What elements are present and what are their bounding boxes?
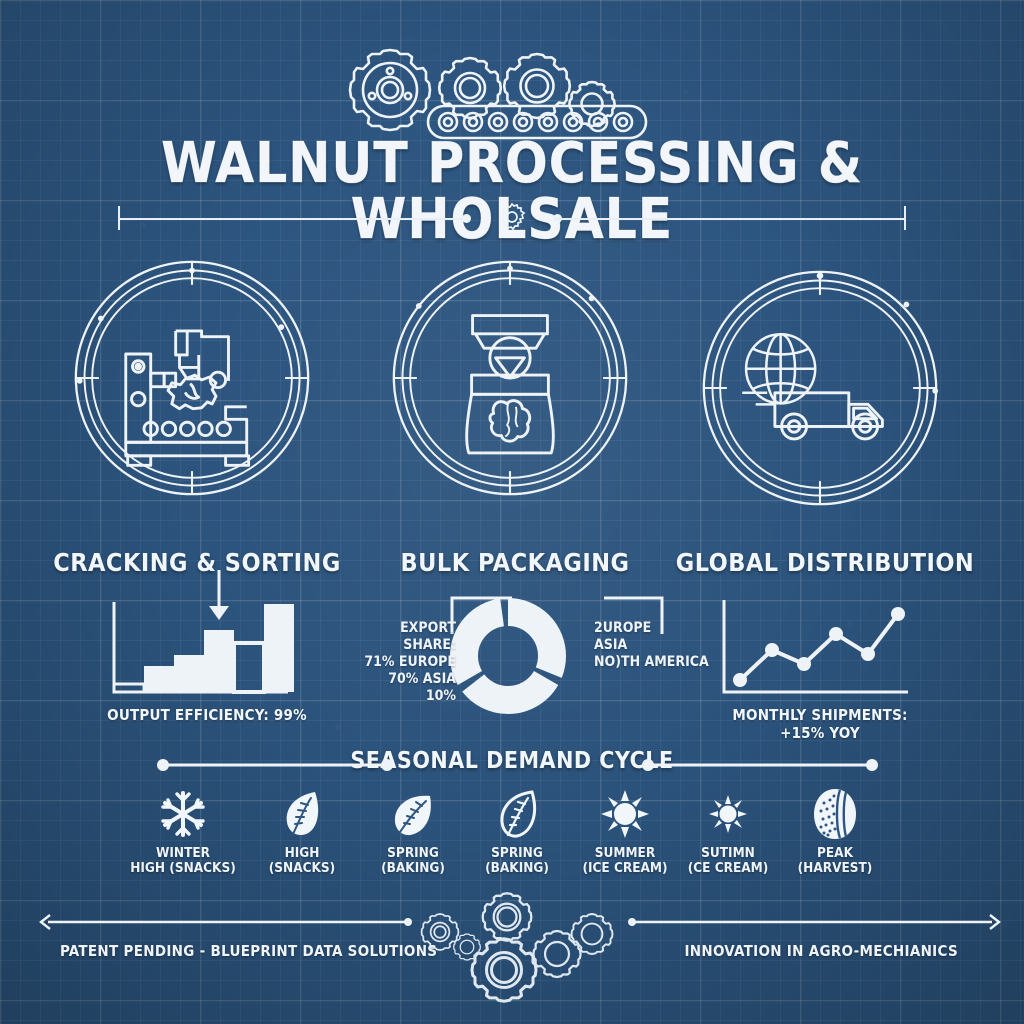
stage-packaging-label: BULK PACKAGING: [355, 548, 675, 577]
footer-right-text: INNOVATION IN AGRO-MECHIANICS: [684, 942, 958, 960]
footer-left-text: PATENT PENDING - BLUEPRINT DATA SOLUTION…: [60, 942, 437, 960]
season-line1: PEAK: [770, 846, 900, 861]
donut-value-2: 70% ASIA: [352, 671, 456, 688]
output-efficiency-label: OUTPUT EFFICIENCY: 99%: [98, 706, 316, 724]
donut-right-legend: 2UROPE ASIA NO)TH AMERICA: [594, 620, 714, 671]
season-caption: WINTER HIGH (SNACKS): [118, 846, 248, 876]
donut-legend-2: ASIA: [594, 637, 714, 654]
monthly-shipments-line-chart: [710, 592, 925, 704]
walnut-icon: [770, 788, 900, 840]
stage-global-distribution[interactable]: [700, 268, 940, 508]
rule-center-gear-icon: [496, 202, 528, 234]
season-line2: HIGH (SNACKS): [118, 861, 248, 876]
stage-bulk-packaging[interactable]: [390, 258, 630, 498]
footer-right-arrow-rule: [622, 912, 1002, 932]
stage-cracking-sorting[interactable]: [72, 258, 312, 498]
donut-value-3: 10%: [352, 688, 456, 705]
donut-legend-3: NO)TH AMERICA: [594, 654, 714, 671]
donut-left-legend: EXPORT SHARE: 71% EUROPE 70% ASIA 10%: [352, 620, 456, 705]
infographic-canvas: WALNUT PROCESSING & WHOLSALE: [0, 0, 1024, 1024]
season-caption: PEAK (HARVEST): [770, 846, 900, 876]
stage-distribution-label: GLOBAL DISTRIBUTION: [665, 548, 985, 577]
season-item-peak-harvest[interactable]: PEAK (HARVEST): [770, 788, 900, 876]
donut-value-1: 71% EUROPE: [352, 654, 456, 671]
season-line1: WINTER: [118, 846, 248, 861]
season-item-winter[interactable]: WINTER HIGH (SNACKS): [118, 788, 248, 876]
donut-title: EXPORT SHARE:: [352, 620, 456, 654]
seasonal-heading-rule-right: [640, 758, 880, 772]
globe-truck-icon: [700, 268, 940, 508]
gear-cluster-icon: [412, 892, 612, 1004]
stage-cracking-label: CRACKING & SORTING: [37, 548, 357, 577]
seasonal-heading-rule-left: [155, 758, 395, 772]
cracking-machine-icon: [72, 258, 312, 498]
donut-legend-1: 2UROPE: [594, 620, 714, 637]
output-efficiency-bar-chart: [98, 588, 313, 703]
season-line2: (HARVEST): [770, 861, 900, 876]
footer-left-arrow-rule: [38, 912, 418, 932]
monthly-shipments-label: MONTHLY SHIPMENTS: +15% YOY: [710, 706, 930, 742]
snowflake-icon: [118, 788, 248, 840]
title-underline-rule: [118, 206, 906, 230]
sack-hopper-icon: [390, 258, 630, 498]
